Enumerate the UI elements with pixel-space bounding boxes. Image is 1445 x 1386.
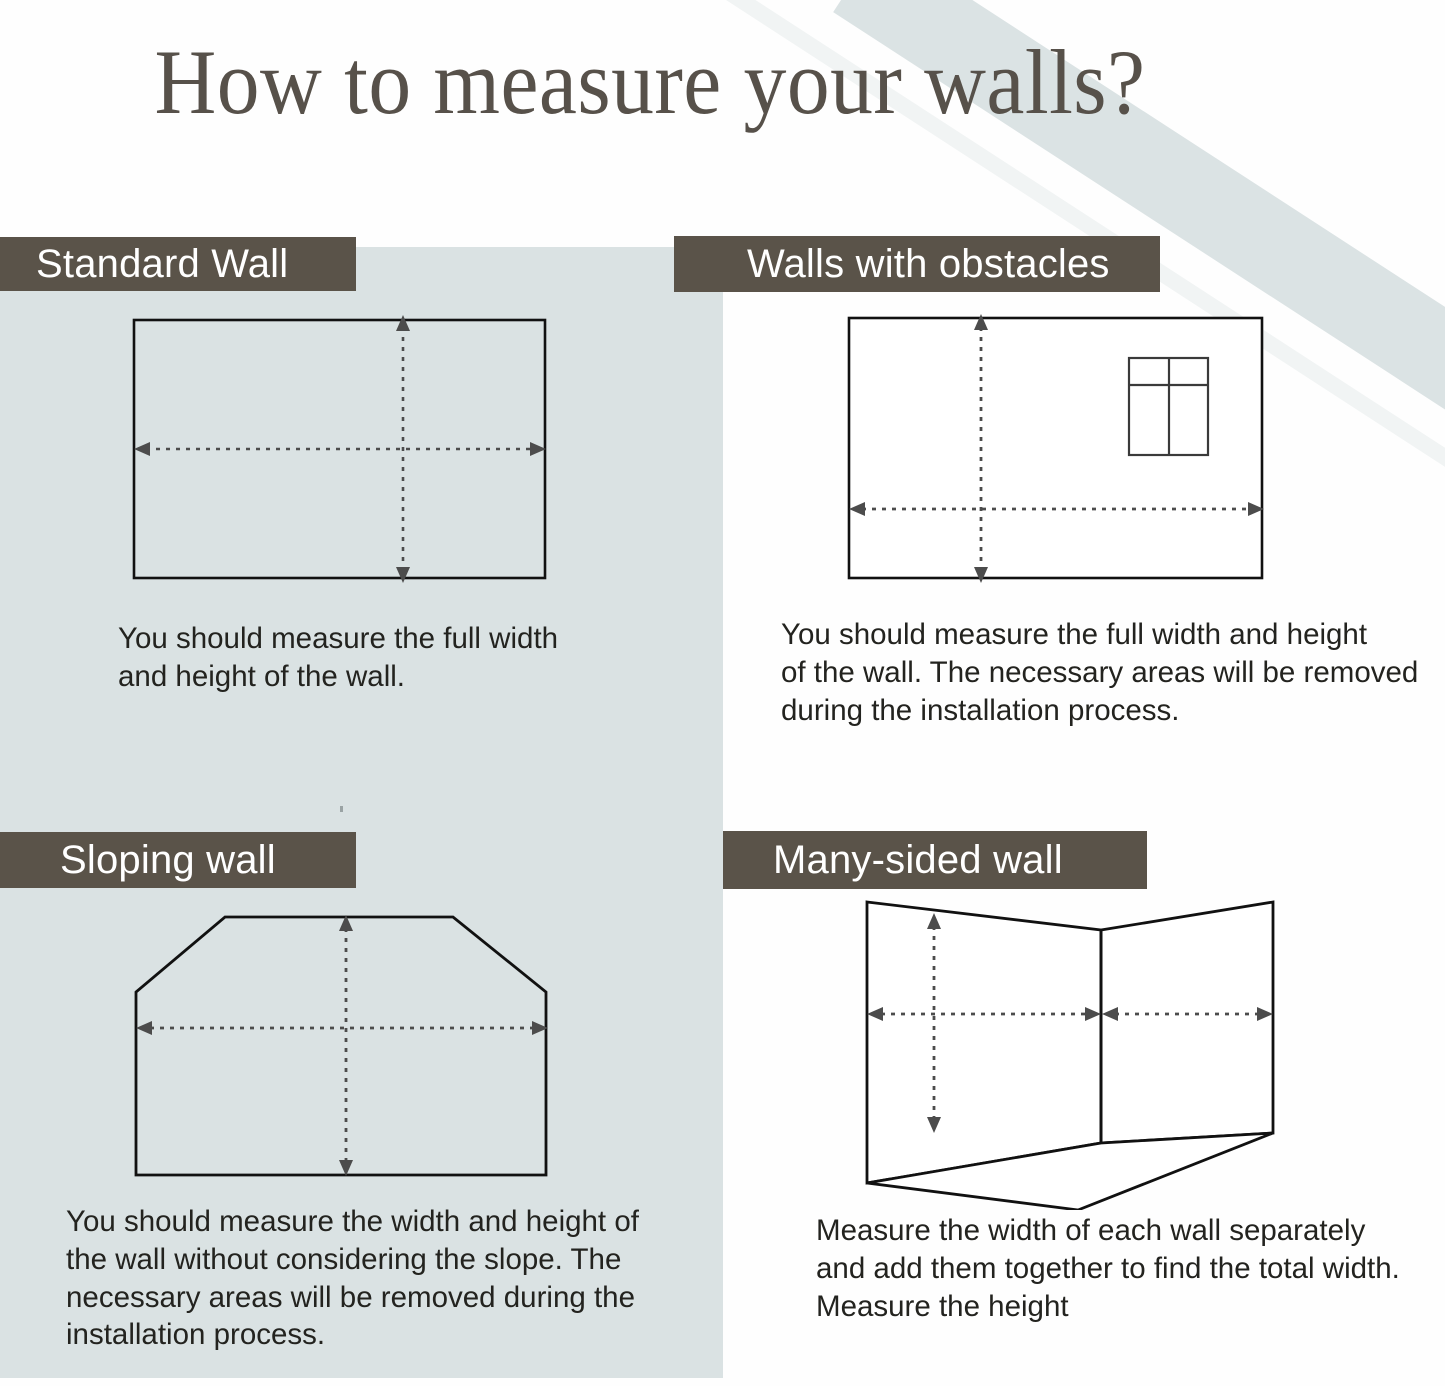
- diagram-sloping-wall: [118, 900, 578, 1195]
- window-icon: [1129, 358, 1208, 455]
- diagram-walls-with-obstacles: [835, 303, 1285, 595]
- caption-walls-with-obstacles: You should measure the full width and he…: [781, 616, 1421, 729]
- right-wall-face: [1101, 902, 1273, 1143]
- sloping-wall-svg: [118, 900, 578, 1195]
- caption-standard-wall: You should measure the full width and he…: [118, 620, 638, 696]
- infographic-root: How to measure your walls? Standard Wall…: [0, 0, 1445, 1386]
- caption-sloping-wall: You should measure the width and height …: [66, 1203, 666, 1354]
- sloped-wall-shape: [136, 917, 546, 1175]
- page-title: How to measure your walls?: [46, 34, 1255, 131]
- section-heading-label: Walls with obstacles: [747, 242, 1110, 287]
- section-header-sloping-wall: Sloping wall: [0, 832, 356, 888]
- diagram-many-sided-wall: [845, 890, 1305, 1210]
- section-heading-label: Many-sided wall: [773, 838, 1063, 883]
- section-header-standard-wall: Standard Wall: [0, 237, 356, 291]
- corner-room-svg: [845, 890, 1305, 1210]
- caption-many-sided-wall: Measure the width of each wall separatel…: [816, 1212, 1426, 1325]
- section-heading-label: Standard Wall: [36, 242, 288, 287]
- left-wall-face: [867, 902, 1101, 1183]
- section-header-many-sided-wall: Many-sided wall: [723, 831, 1147, 889]
- section-heading-label: Sloping wall: [60, 838, 276, 883]
- panel-tick-mark: [340, 806, 343, 812]
- section-header-walls-with-obstacles: Walls with obstacles: [674, 236, 1160, 292]
- standard-wall-svg: [120, 305, 570, 595]
- obstacle-wall-svg: [835, 303, 1285, 595]
- diagram-standard-wall: [120, 305, 570, 595]
